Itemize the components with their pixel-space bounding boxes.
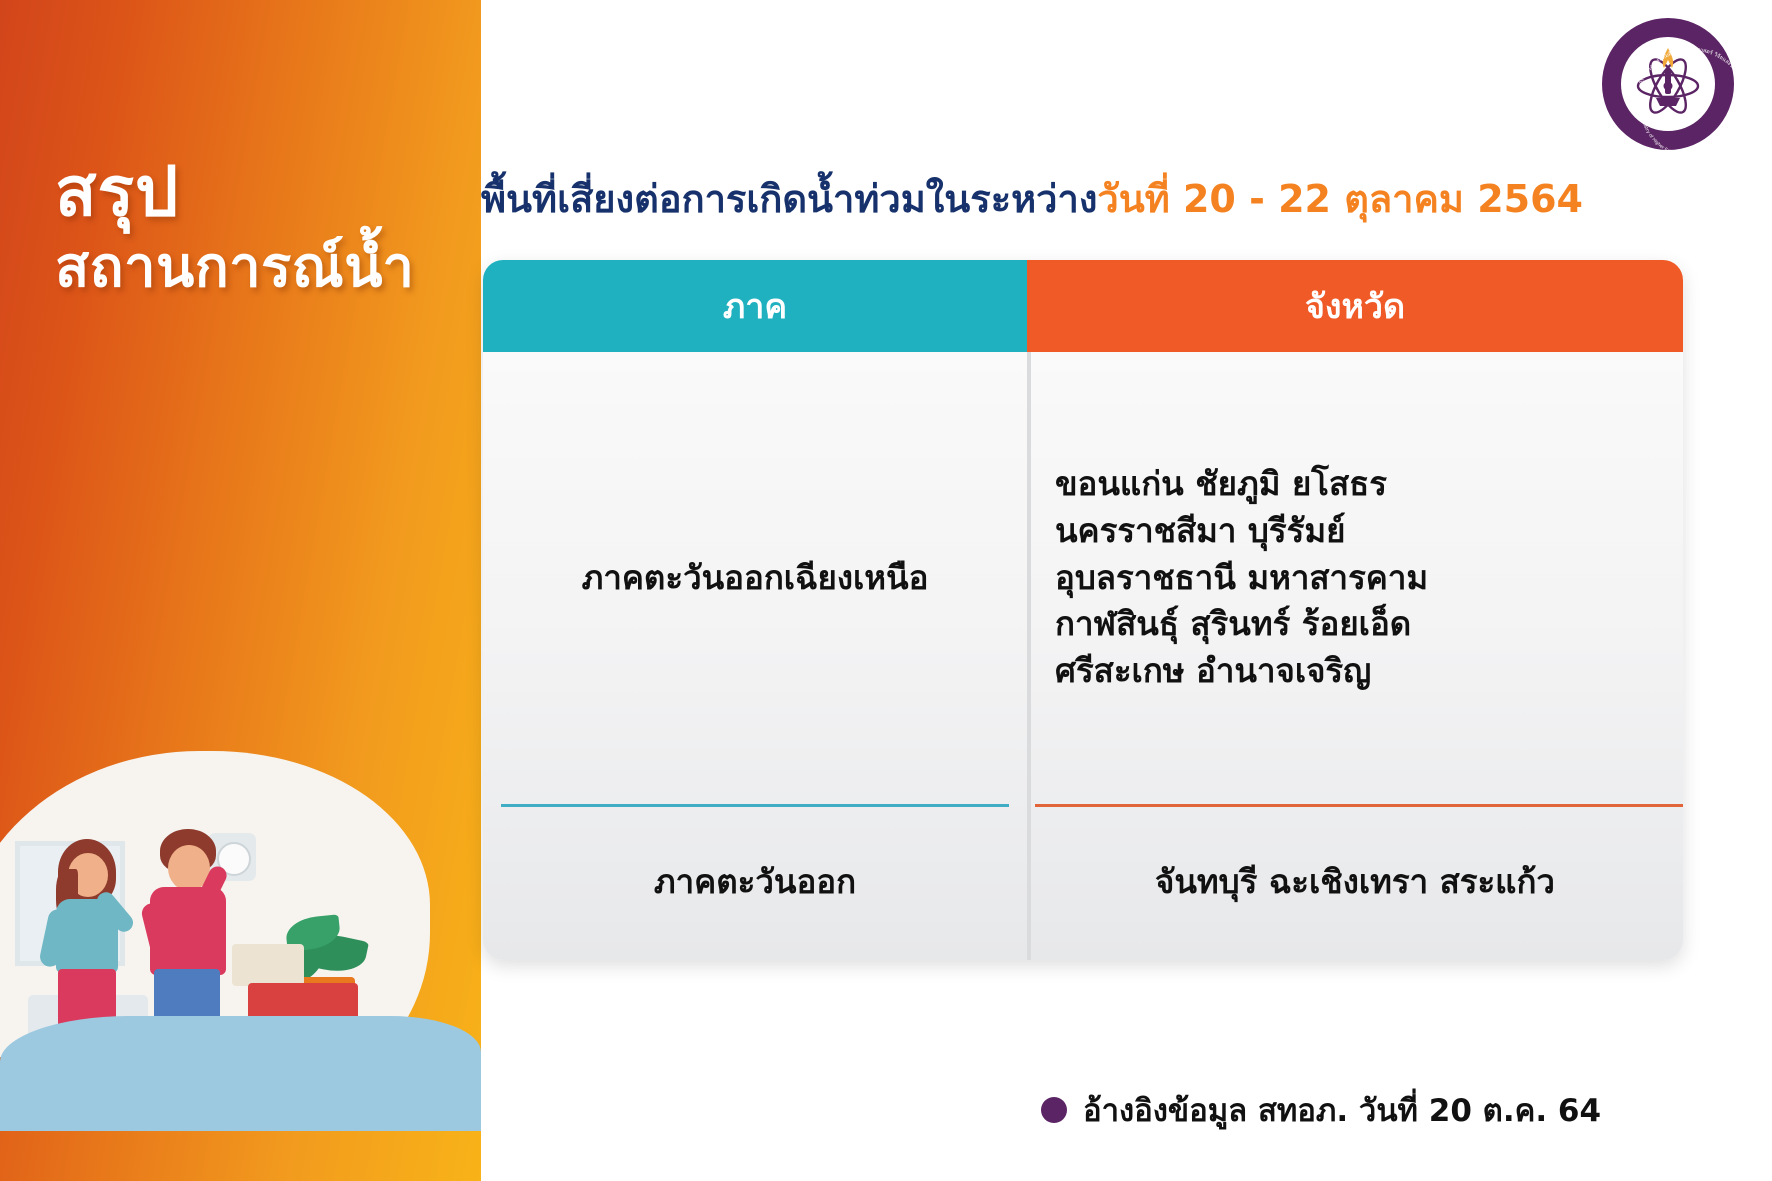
main-content: พื้นที่เสี่ยงต่อการเกิดน้ำท่วมในระหว่างว… <box>481 0 1772 1181</box>
flood-illustration <box>0 731 481 1181</box>
table-header-region: ภาค <box>483 260 1027 352</box>
panel-title-line2: สถานการณ์น้ำ <box>55 237 414 300</box>
province-list: ขอนแก่น ชัยภูมิ ยโสธร นครราชสีมา บุรีรัม… <box>1055 461 1428 695</box>
table-body: ภาคตะวันออกเฉียงเหนือ ภาคตะวันออก ขอนแก่… <box>483 352 1683 960</box>
panel-title: สรุป สถานการณ์น้ำ <box>55 155 414 300</box>
table-header-row: ภาค จังหวัด <box>483 260 1683 352</box>
province-line: ขอนแก่น ชัยภูมิ ยโสธร <box>1055 461 1428 508</box>
headline-navy-text: พื้นที่เสี่ยงต่อการเกิดน้ำท่วมในระหว่าง <box>481 177 1097 221</box>
province-line: ศรีสะเกษ อำนาจเจริญ <box>1055 648 1428 695</box>
floodwater-front-shape <box>0 1016 481 1131</box>
bullet-dot-icon <box>1041 1097 1067 1123</box>
page-title: พื้นที่เสี่ยงต่อการเกิดน้ำท่วมในระหว่างว… <box>481 168 1772 229</box>
table-row: ขอนแก่น ชัยภูมิ ยโสธร นครราชสีมา บุรีรัม… <box>1027 352 1683 804</box>
region-label: ภาคตะวันออก <box>654 859 856 906</box>
panel-title-line1: สรุป <box>55 155 414 231</box>
table-column-province: ขอนแก่น ชัยภูมิ ยโสธร นครราชสีมา บุรีรัม… <box>1027 352 1683 960</box>
province-line: จันทบุรี ฉะเชิงเทรา สระแก้ว <box>1155 859 1555 906</box>
headline-orange-text: วันที่ 20 - 22 ตุลาคม 2564 <box>1097 177 1583 221</box>
province-line: นครราชสีมา บุรีรัมย์ <box>1055 508 1428 555</box>
infographic-page: สรุป สถานการณ์น้ำ <box>0 0 1772 1181</box>
table-row: จันทบุรี ฉะเชิงเทรา สระแก้ว <box>1027 804 1683 960</box>
flood-risk-table: ภาค จังหวัด ภาคตะวันออกเฉียงเหนือ ภาคตะว… <box>483 260 1683 960</box>
region-label: ภาคตะวันออกเฉียงเหนือ <box>582 555 929 602</box>
table-row: ภาคตะวันออกเฉียงเหนือ <box>483 352 1027 804</box>
province-line: กาฬสินธุ์ สุรินทร์ ร้อยเอ็ด <box>1055 601 1428 648</box>
table-column-region: ภาคตะวันออกเฉียงเหนือ ภาคตะวันออก <box>483 352 1027 960</box>
table-header-province: จังหวัด <box>1027 260 1683 352</box>
source-credit-text: อ้างอิงข้อมูล สทอภ. วันที่ 20 ต.ค. 64 <box>1083 1085 1601 1135</box>
province-line: อุบลราชธานี มหาสารคาม <box>1055 555 1428 602</box>
left-gradient-panel: สรุป สถานการณ์น้ำ <box>0 0 481 1181</box>
row-divider-teal <box>501 804 1009 807</box>
row-divider-orange <box>1035 804 1683 807</box>
source-credit: อ้างอิงข้อมูล สทอภ. วันที่ 20 ต.ค. 64 <box>1041 1085 1601 1135</box>
table-row: ภาคตะวันออก <box>483 804 1027 960</box>
